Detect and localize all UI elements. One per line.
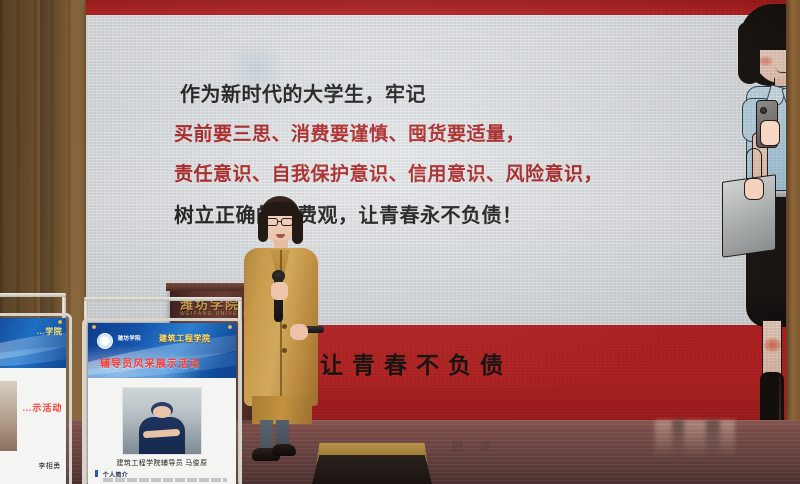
poster-name-a: 建筑工程学院辅导员 马俊原 — [88, 458, 236, 468]
poster-body-a: 潍坊学院 建筑工程学院 辅导员风采展示活动 建筑工程学院辅导员 马俊原 个人简介 — [88, 323, 236, 484]
poster-college-b: …学院 — [37, 326, 63, 337]
easel-top-rail-b — [0, 293, 66, 297]
power-cable — [779, 376, 781, 424]
poster-pin-right — [228, 325, 232, 329]
cartoon-hand-phone — [760, 120, 780, 146]
poster-pin-left — [92, 325, 96, 329]
poster-logo-text: 潍坊学院 — [118, 334, 141, 342]
speaker-hair-side-right — [292, 212, 303, 244]
speaker-coat-button-2 — [282, 348, 287, 353]
poster-title-b: …示活动 — [22, 401, 62, 414]
university-logo-icon — [97, 333, 113, 349]
speaker-person — [238, 196, 336, 464]
poster-title-a: 辅导员风采展示活动 — [100, 355, 201, 370]
poster-photo-b — [0, 381, 17, 451]
cartoon-mouth — [776, 68, 786, 73]
poster-header-a: 潍坊学院 建筑工程学院 辅导员风采展示活动 — [88, 323, 236, 378]
screen-top-red-band — [86, 0, 786, 15]
poster-board-secondary[interactable]: …学院 …示活动 李相勇 — [0, 318, 66, 484]
cartoon-student-illustration — [718, 2, 786, 420]
poster-body-b: …学院 …示活动 李相勇 — [0, 318, 66, 484]
slide-line-3: 责任意识、自我保护意识、信用意识、风险意识， — [174, 159, 614, 186]
speaker-hand-microphone — [271, 282, 288, 300]
speaker-shoe-right — [272, 444, 296, 456]
speaker-hair-side-left — [258, 212, 268, 242]
poster-header-b: …学院 — [0, 318, 66, 368]
poster-body-text-lines — [103, 478, 227, 482]
stage-scene: 作为新时代的大学生，牢记 买前要三思、消费要谨慎、囤货要适量， 责任意识、自我保… — [0, 0, 800, 484]
stage-riser-front — [312, 455, 432, 484]
slide-line-2: 买前要三思、消费要谨慎、囤货要适量， — [174, 119, 614, 146]
speaker-glasses-bridge — [278, 221, 282, 222]
poster-pin-b — [58, 320, 62, 324]
cartoon-hair-left — [738, 22, 760, 84]
cartoon-blush-left — [758, 56, 773, 66]
poster-portrait-photo — [122, 387, 202, 455]
speaker-hand-right — [290, 324, 308, 340]
floor-ghost-text: 困 境 — [452, 438, 572, 458]
portrait-face — [153, 406, 170, 418]
cartoon-knee-left — [764, 338, 781, 352]
poster-college-a: 建筑工程学院 — [159, 333, 211, 344]
poster-section-marker — [95, 470, 98, 477]
speaker-coat-button-1 — [282, 324, 287, 329]
poster-board-primary[interactable]: 潍坊学院 建筑工程学院 辅导员风采展示活动 建筑工程学院辅导员 马俊原 个人简介 — [88, 323, 236, 484]
cartoon-hand-bag — [744, 178, 764, 200]
wall-right-strip — [786, 0, 800, 426]
easel-top-rail-a — [84, 297, 242, 301]
slide-line-1: 作为新时代的大学生，牢记 — [174, 78, 614, 107]
poster-name-b: 李相勇 — [38, 461, 60, 471]
phone-camera-icon — [760, 107, 767, 114]
